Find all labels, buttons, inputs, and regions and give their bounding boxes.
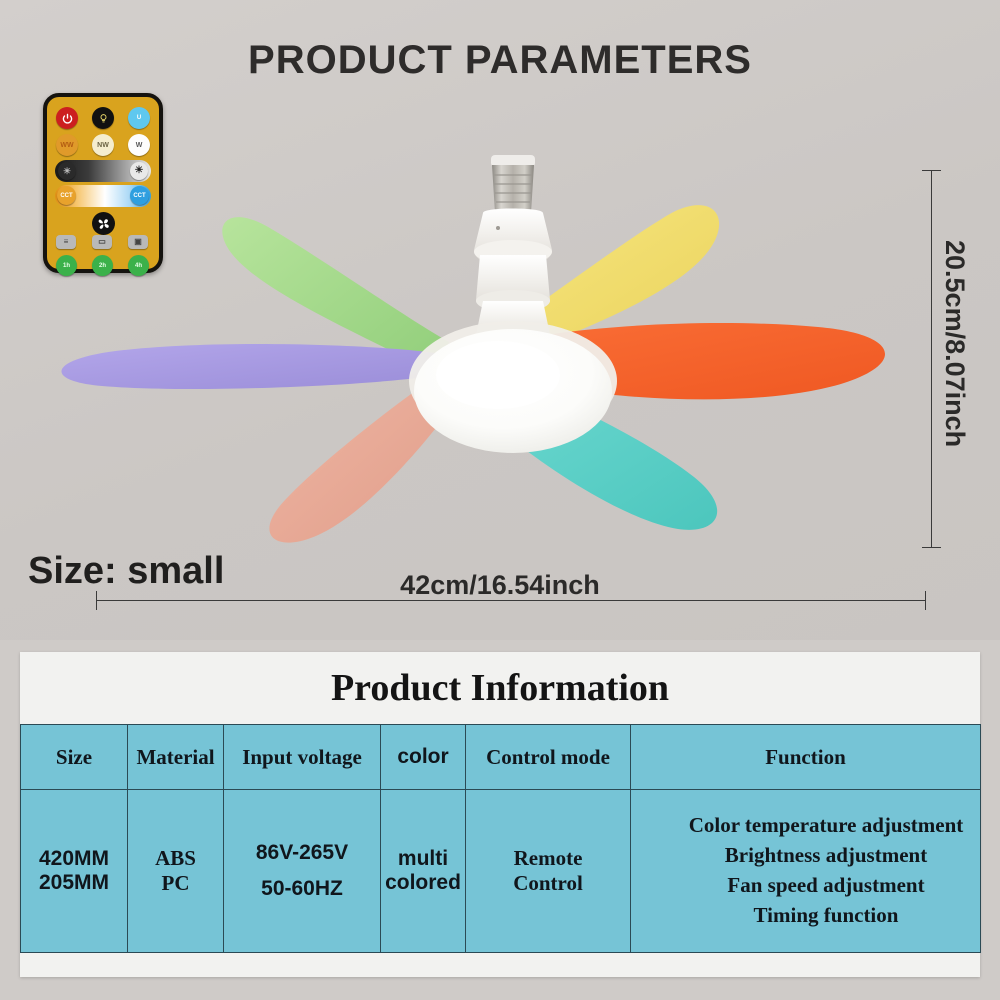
control-line-1: Remote — [467, 846, 629, 871]
header-control-mode: Control mode — [466, 725, 631, 790]
cell-voltage: 86V-265V 50-60HZ — [224, 790, 381, 953]
fan-blade-purple — [61, 344, 449, 389]
bulb-icon — [98, 113, 109, 124]
power-button[interactable] — [56, 107, 78, 129]
brightness-down-icon[interactable]: ☀ — [58, 162, 76, 180]
size-line-2: 205MM — [22, 871, 126, 895]
function-line-1: Color temperature adjustment — [673, 811, 979, 841]
function-line-2: Brightness adjustment — [673, 841, 979, 871]
color-line-1: multi — [382, 847, 464, 871]
cell-size: 420MM 205MM — [21, 790, 128, 953]
header-color: color — [381, 725, 466, 790]
ceiling-fan-illustration — [28, 95, 928, 565]
header-function: Function — [631, 725, 981, 790]
cct-warm-button[interactable]: CCT — [57, 186, 76, 205]
mode-button[interactable]: U — [128, 107, 150, 129]
remote-control[interactable]: U WW NW W ☀ ☀ CCT CCT ≡ ▭ ▣ 1h 2h 4h — [43, 93, 163, 273]
neutral-white-button[interactable]: NW — [92, 134, 114, 156]
fan-speed-button[interactable] — [92, 212, 115, 235]
cell-material: ABS PC — [128, 790, 224, 953]
timer-4h-button[interactable]: 4h — [128, 255, 149, 276]
speed-high-button[interactable]: ▣ — [128, 235, 148, 249]
material-line-2: PC — [129, 871, 222, 896]
power-icon — [62, 113, 73, 124]
function-line-4: Timing function — [673, 901, 979, 931]
speed-mid-button[interactable]: ▭ — [92, 235, 112, 249]
product-information-table: Size Material Input voltage color Contro… — [20, 724, 981, 953]
cell-control-mode: Remote Control — [466, 790, 631, 953]
white-button[interactable]: W — [128, 134, 150, 156]
timer-1h-button[interactable]: 1h — [56, 255, 77, 276]
height-dimension-label: 20.5cm/8.07inch — [939, 240, 970, 480]
fan-icon — [97, 217, 111, 231]
table-header-row: Size Material Input voltage color Contro… — [21, 725, 981, 790]
size-label: Size: small — [28, 550, 224, 593]
voltage-line-2: 50-60HZ — [225, 877, 379, 901]
product-information-panel: Product Information Size Material Input … — [20, 652, 980, 977]
header-size: Size — [21, 725, 128, 790]
material-line-1: ABS — [129, 846, 222, 871]
bulb-button[interactable] — [92, 107, 114, 129]
product-photo-area: PRODUCT PARAMETERS — [0, 0, 1000, 640]
table-data-row: 420MM 205MM ABS PC 86V-265V 50-60HZ — [21, 790, 981, 953]
control-line-2: Control — [467, 871, 629, 896]
page-title: PRODUCT PARAMETERS — [0, 38, 1000, 83]
size-line-1: 420MM — [22, 847, 126, 871]
brightness-up-icon[interactable]: ☀ — [130, 162, 148, 180]
color-line-2: colored — [382, 871, 464, 895]
cell-color: multi colored — [381, 790, 466, 953]
voltage-line-1: 86V-265V — [225, 841, 379, 865]
cell-function: Color temperature adjustment Brightness … — [631, 790, 981, 953]
warm-white-button[interactable]: WW — [56, 134, 78, 156]
header-material: Material — [128, 725, 224, 790]
timer-2h-button[interactable]: 2h — [92, 255, 113, 276]
info-panel-title: Product Information — [20, 666, 980, 710]
header-input-voltage: Input voltage — [224, 725, 381, 790]
function-line-3: Fan speed adjustment — [673, 871, 979, 901]
speed-low-button[interactable]: ≡ — [56, 235, 76, 249]
height-dimension-line — [931, 170, 932, 548]
cct-cool-button[interactable]: CCT — [130, 186, 149, 205]
